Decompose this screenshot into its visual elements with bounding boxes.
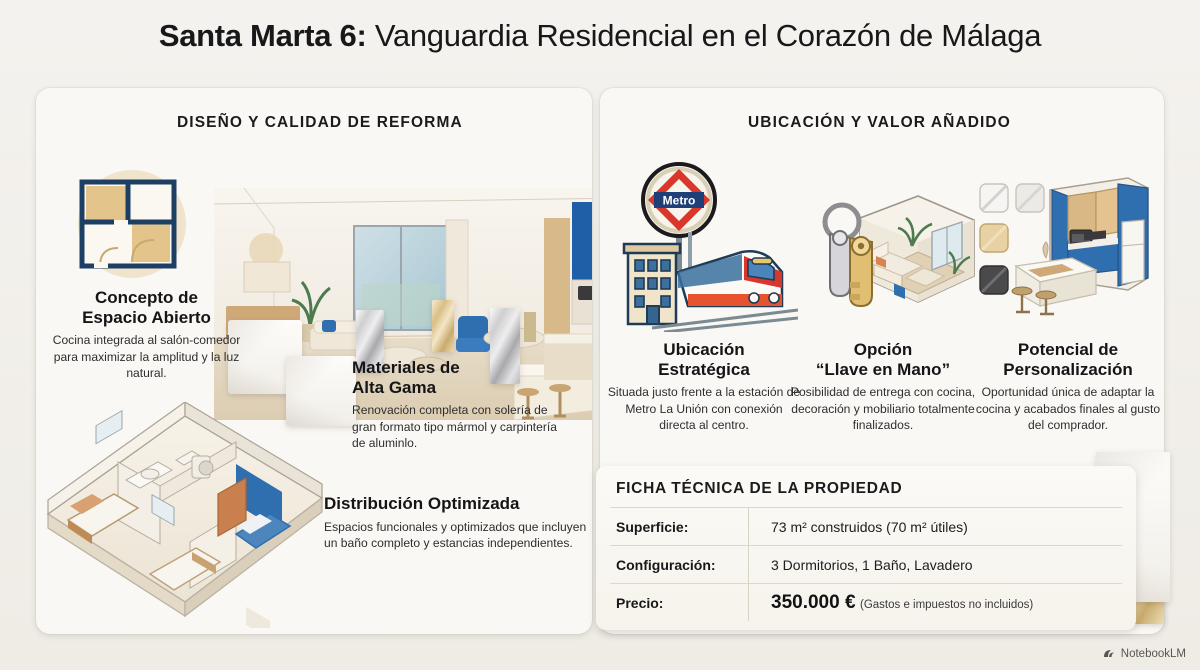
feature-materiales: Materiales de Alta Gama Renovación compl… (352, 358, 567, 451)
kitchen-swatches-icon (976, 174, 1156, 321)
ficha-label: Superficie: (616, 519, 748, 535)
feature-title: Distribución Optimizada (324, 494, 594, 514)
ficha-price-note: (Gastos e impuestos no incluidos) (860, 599, 1033, 611)
infographic-page: Santa Marta 6: Vanguardia Residencial en… (0, 0, 1200, 670)
gold-strip (432, 300, 454, 352)
feature-title-line1: Potencial de (1018, 340, 1118, 359)
feature-personalizacion: Potencial de Personalización Oportunidad… (968, 340, 1168, 433)
feature-title-line1: Opción (854, 340, 913, 359)
ficha-divider (748, 508, 749, 545)
feature-title: Concepto de Espacio Abierto (44, 288, 249, 327)
feature-distribucion: Distribución Optimizada Espacios funcion… (324, 494, 594, 551)
feature-body: Renovación completa con solería de gran … (352, 402, 567, 450)
page-title-strong: Santa Marta 6: (159, 18, 367, 53)
feature-title: Ubicación Estratégica (606, 340, 802, 379)
feature-title-line1: Concepto de (95, 288, 198, 307)
feature-body: Posibilidad de entrega con cocina, decor… (788, 384, 978, 432)
feature-body: Oportunidad única de adaptar la cocina y… (968, 384, 1168, 432)
section-heading-design: DISEÑO Y CALIDAD DE REFORMA (177, 114, 463, 132)
section-heading-location: UBICACIÓN Y VALOR AÑADIDO (748, 114, 1011, 132)
ficha-row-superficie: Superficie: 73 m² construidos (70 m² úti… (610, 507, 1122, 545)
feature-ubicacion: Ubicación Estratégica Situada justo fren… (606, 340, 802, 433)
feature-llave-en-mano: Opción “Llave en Mano” Posibilidad de en… (788, 340, 978, 433)
feature-title: Opción “Llave en Mano” (788, 340, 978, 379)
feature-body: Cocina integrada al salón-comedor para m… (44, 332, 249, 380)
metro-train-icon (592, 232, 798, 337)
ficha-value: 73 m² construidos (70 m² útiles) (771, 519, 968, 535)
feature-title: Materiales de Alta Gama (352, 358, 567, 397)
ficha-label: Precio: (616, 595, 748, 611)
feature-title-line2: Personalización (1003, 360, 1132, 379)
ficha-value-group: 350.000 € (Gastos e impuestos no incluid… (771, 592, 1033, 614)
ficha-label: Configuración: (616, 557, 748, 573)
feature-title-line2: Alta Gama (352, 378, 436, 397)
feature-title-line2: Espacio Abierto (82, 308, 211, 327)
ficha-divider (748, 546, 749, 583)
metro-sign-label: Metro (663, 194, 696, 208)
isometric-floorplan-icon (40, 402, 330, 633)
ficha-tecnica-card: FICHA TÉCNICA DE LA PROPIEDAD Superficie… (596, 466, 1136, 630)
feature-title: Potencial de Personalización (968, 340, 1168, 379)
watermark-label: NotebookLM (1121, 648, 1186, 660)
ficha-divider (748, 584, 749, 621)
feature-title-line2: “Llave en Mano” (816, 360, 950, 379)
feature-body: Espacios funcionales y optimizados que i… (324, 519, 594, 551)
ficha-row-precio: Precio: 350.000 € (Gastos e impuestos no… (610, 583, 1122, 621)
feature-body: Situada justo frente a la estación de Me… (606, 384, 802, 432)
feature-title-line1: Materiales de (352, 358, 460, 377)
floor-plan-icon (66, 162, 194, 289)
notebooklm-watermark: NotebookLM (1102, 647, 1186, 661)
feature-espacio-abierto: Concepto de Espacio Abierto Cocina integ… (44, 288, 249, 381)
page-title-rest: Vanguardia Residencial en el Corazón de … (367, 18, 1042, 53)
ficha-price: 350.000 € (771, 592, 856, 613)
keys-room-icon (806, 190, 978, 325)
ficha-value: 3 Dormitorios, 1 Baño, Lavadero (771, 557, 973, 573)
page-title: Santa Marta 6: Vanguardia Residencial en… (0, 18, 1200, 54)
ficha-title: FICHA TÉCNICA DE LA PROPIEDAD (596, 478, 1136, 507)
feature-title-line2: Estratégica (658, 360, 750, 379)
ficha-row-configuracion: Configuración: 3 Dormitorios, 1 Baño, La… (610, 545, 1122, 583)
notebooklm-logo-icon (1102, 647, 1116, 661)
feature-title-line1: Ubicación (663, 340, 744, 359)
